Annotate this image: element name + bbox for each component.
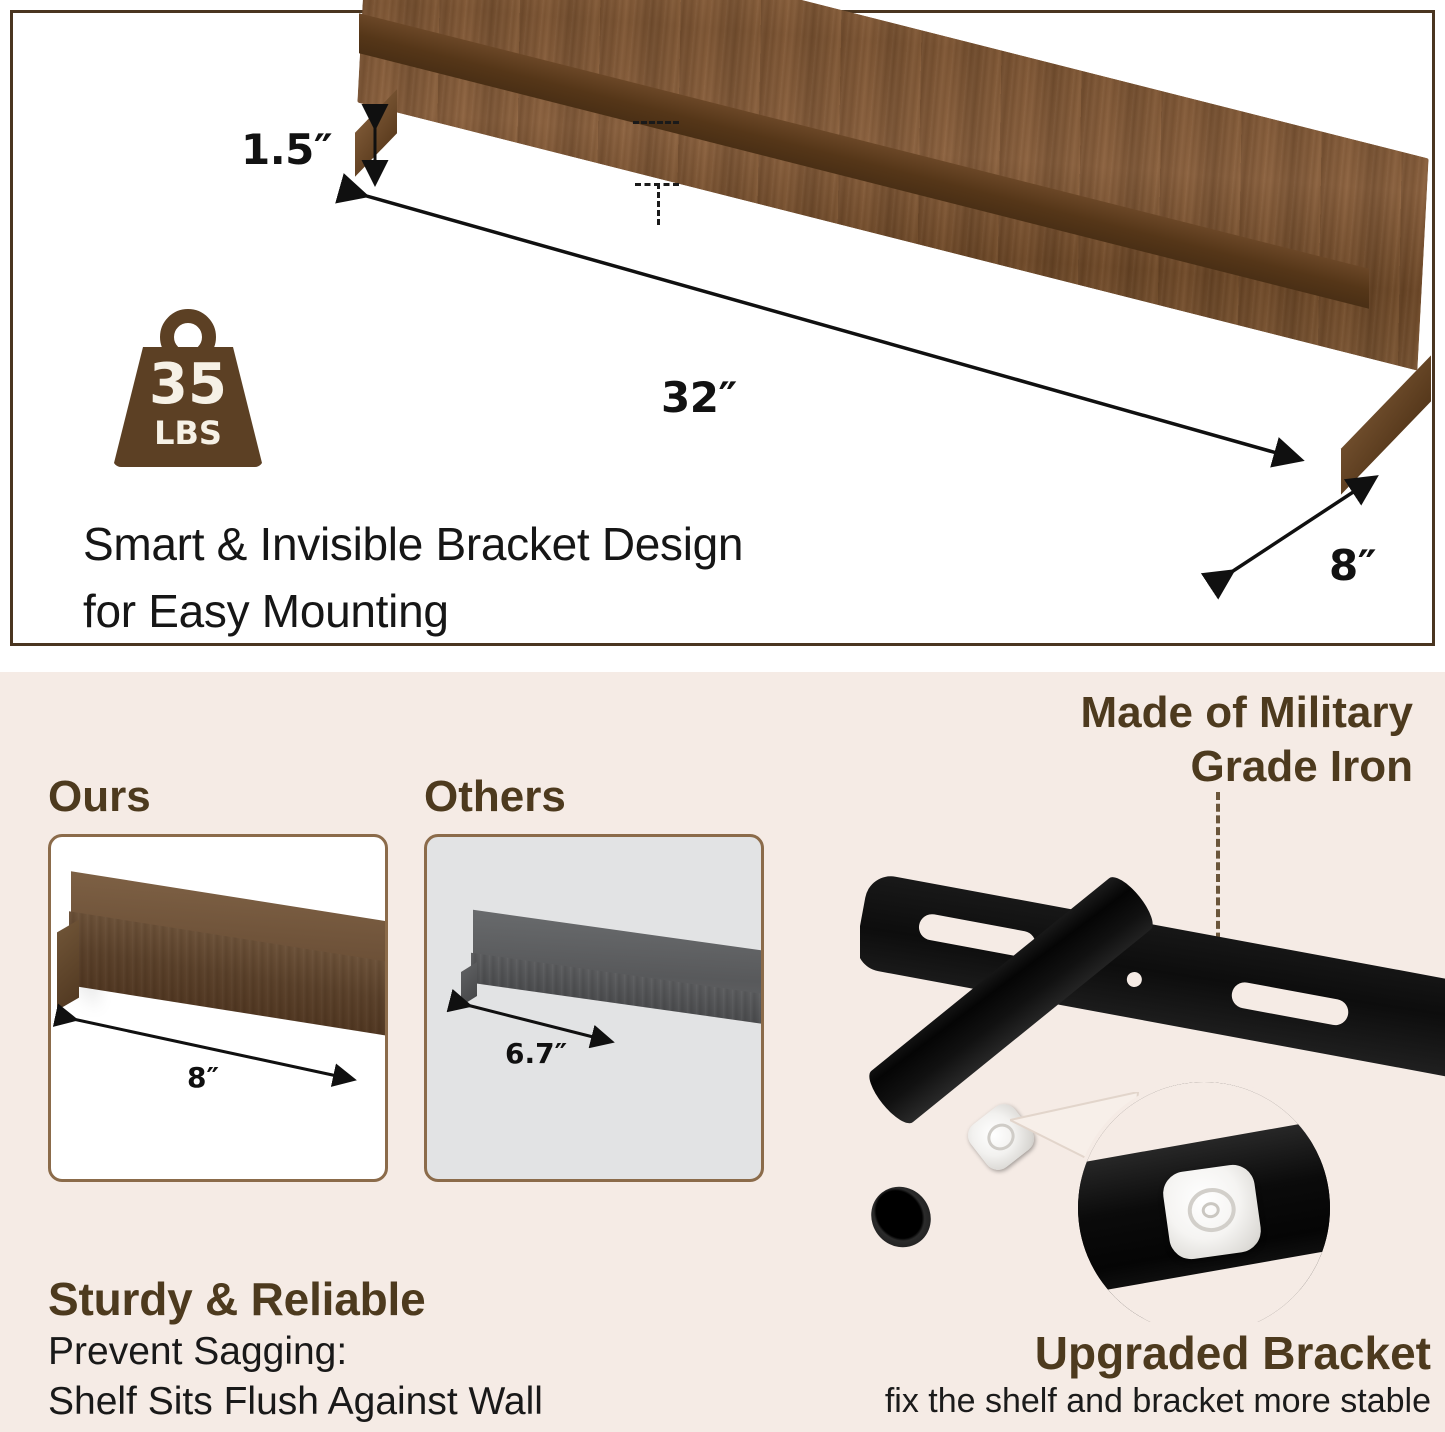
shelf-top-face	[357, 0, 1428, 371]
military-iron-heading: Made of Military Grade Iron	[773, 686, 1413, 793]
dimension-depth-label: 8″	[1329, 541, 1376, 590]
shelf-front-edge	[359, 13, 1369, 309]
plate-screw-hole	[1126, 971, 1143, 988]
comparison-panel-ours: 8″	[48, 834, 388, 1182]
plate-slot-right	[1230, 980, 1351, 1027]
shelf-left-end-cap	[355, 89, 397, 176]
military-iron-heading-line1: Made of Military	[773, 686, 1413, 740]
dash-guide-vertical	[657, 183, 660, 225]
dash-guide-bottom	[635, 183, 679, 186]
ours-dimension-arrow	[51, 837, 388, 1182]
shelf-right-end-cap	[1341, 355, 1431, 494]
top-heading-line1: Smart & Invisible Bracket Design	[83, 511, 883, 578]
comparison-label-others: Others	[424, 772, 566, 822]
weight-value: 35	[113, 357, 263, 413]
ours-dimension-label: 8″	[187, 1061, 219, 1094]
dimension-thickness-label: 1.5″	[241, 125, 332, 174]
sturdy-line-2: Shelf Sits Flush Against Wall	[48, 1380, 543, 1424]
comparison-panel-others: 6.7″	[424, 834, 764, 1182]
comparison-label-ours: Ours	[48, 772, 151, 822]
others-dimension-label: 6.7″	[505, 1037, 567, 1070]
sturdy-heading: Sturdy & Reliable	[48, 1272, 425, 1326]
dimension-length-label: 32″	[661, 373, 737, 422]
dash-guide-top	[633, 121, 679, 124]
weight-unit: LBS	[113, 417, 263, 449]
bracket-rod-open-end	[860, 1175, 943, 1260]
others-dimension-arrow	[427, 837, 764, 1182]
upgraded-bracket-heading: Upgraded Bracket	[731, 1326, 1431, 1380]
weight-capacity-badge: 35 LBS	[113, 309, 263, 469]
top-heading-line2: for Easy Mounting	[83, 578, 883, 645]
top-heading: Smart & Invisible Bracket Design for Eas…	[83, 511, 883, 644]
military-iron-heading-line2: Grade Iron	[773, 740, 1413, 794]
product-dimensions-section: 1.5″ 32″ 8″ 35 LBS Smart & Invisible Bra…	[0, 0, 1445, 660]
magnified-white-screw-cap	[1160, 1162, 1263, 1262]
features-section: Ours Others 8″ 6.7″ Stu	[0, 672, 1445, 1432]
upgraded-bracket-subtext: fix the shelf and bracket more stable	[731, 1382, 1431, 1421]
sturdy-line-1: Prevent Sagging:	[48, 1330, 347, 1374]
magnified-detail-circle	[1078, 1082, 1330, 1322]
bracket-illustration	[860, 792, 1445, 1322]
top-panel-frame: 1.5″ 32″ 8″ 35 LBS Smart & Invisible Bra…	[10, 10, 1435, 646]
